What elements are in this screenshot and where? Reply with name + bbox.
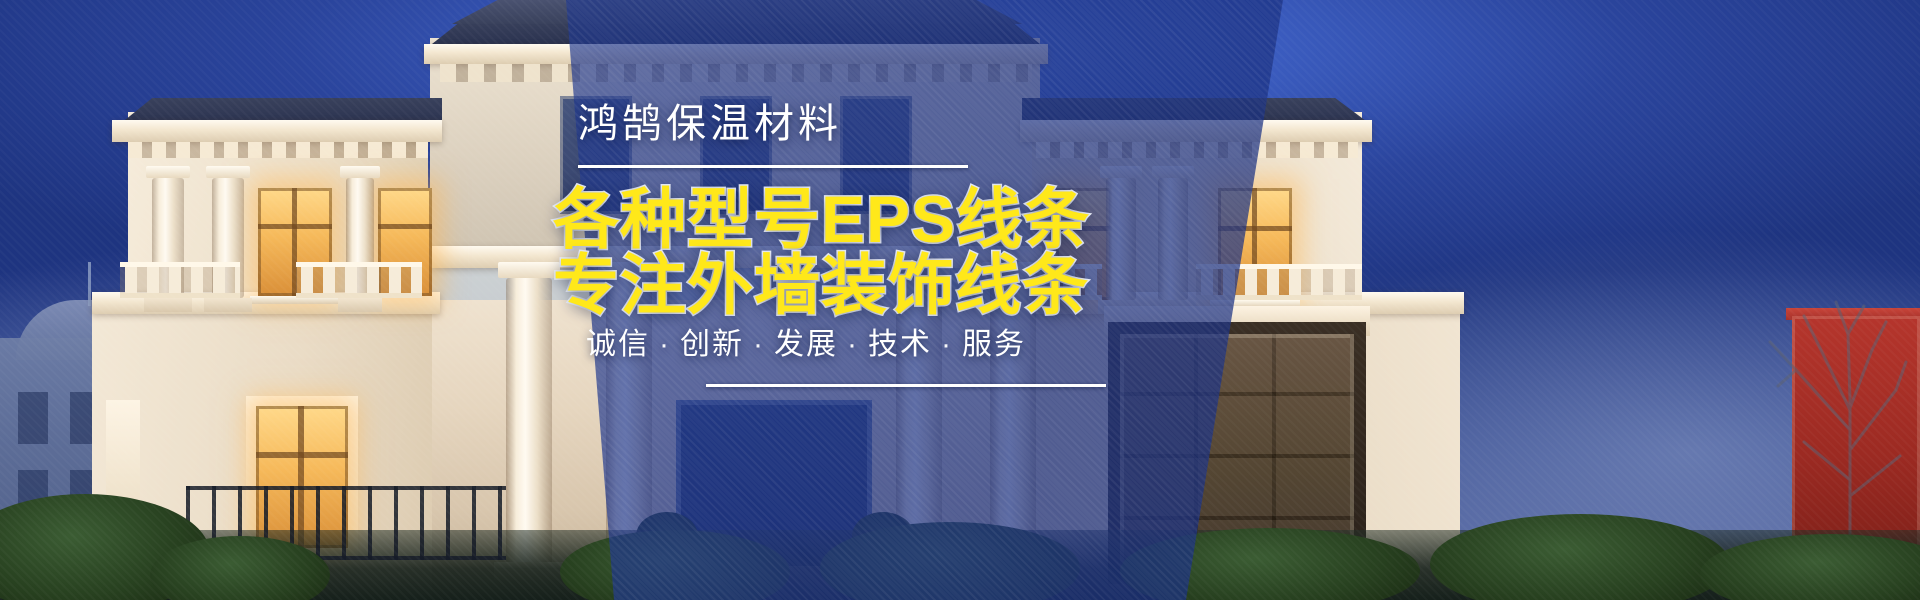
distant-window (18, 392, 48, 444)
dentil-band-left (128, 142, 428, 158)
column-capital (340, 166, 380, 178)
column-capital (146, 166, 190, 178)
column-base (204, 298, 252, 312)
column-base (144, 298, 192, 312)
cornice-left-top (112, 120, 442, 142)
balustrade-left (120, 262, 240, 298)
promo-banner: 鸿鹄保温材料 各种型号EPS线条 专注外墙装饰线条 诚信·创新·发展·技术·服务 (0, 0, 1920, 600)
distant-building-spire (88, 262, 91, 306)
balustrade-left-2 (296, 262, 422, 298)
column-capital (498, 262, 560, 278)
column-capital (206, 166, 250, 178)
hedge (1430, 514, 1730, 600)
column-base (338, 298, 382, 312)
